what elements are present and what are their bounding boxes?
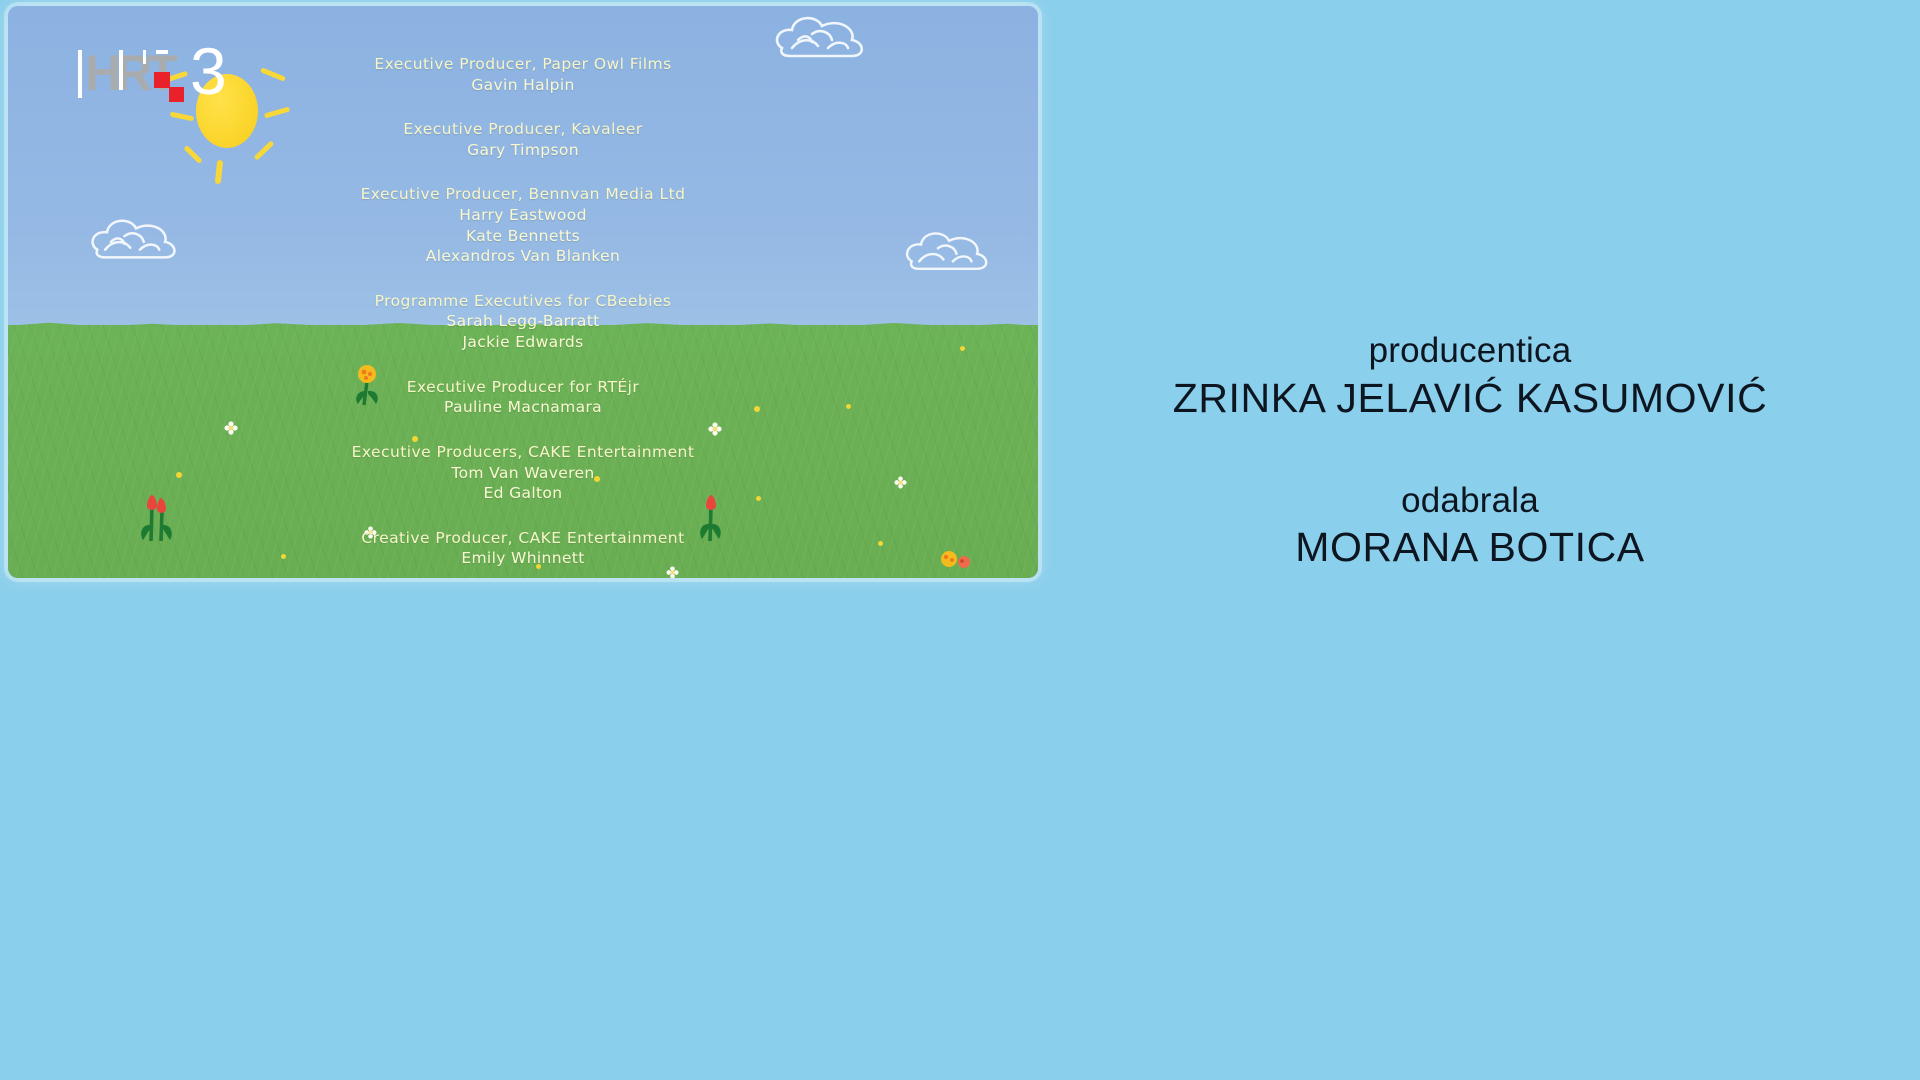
credit-name: Pauline Macnamara: [8, 397, 1038, 418]
video-frame: HRT 3: [8, 6, 1038, 578]
croatian-credit-name: ZRINKA JELAVIĆ KASUMOVIĆ: [1040, 373, 1900, 424]
credit-role: Executive Producer, Bennvan Media Ltd: [8, 184, 1038, 205]
credit-block: Executive Producer, Kavaleer Gary Timpso…: [8, 119, 1038, 160]
credit-role: Programme Executives for CBeebies: [8, 291, 1038, 312]
logo-accent-bar: [156, 50, 168, 54]
video-player-window[interactable]: HRT 3: [8, 6, 1038, 578]
credit-name: Sarah Legg-Barratt: [8, 311, 1038, 332]
credit-role: Creative Producer, CAKE Entertainment: [8, 528, 1038, 549]
video-credits-list: Executive Producer, Paper Owl Films Gavi…: [8, 54, 1038, 578]
logo-channel-number: 3: [190, 38, 227, 104]
croatian-credit-block: odabrala MORANA BOTICA: [1040, 480, 1900, 574]
logo-accent-bar: [143, 50, 146, 64]
credit-block: Programme Executives for CBeebies Sarah …: [8, 291, 1038, 353]
credit-name: Gary Timpson: [8, 140, 1038, 161]
credit-name: Jackie Edwards: [8, 332, 1038, 353]
logo-accent-bar: [119, 50, 123, 90]
credit-block: Creative Producer, CAKE Entertainment Em…: [8, 528, 1038, 569]
credit-name: Alexandros Van Blanken: [8, 246, 1038, 267]
croatian-credit-role: producentica: [1040, 330, 1900, 373]
croatian-credits-overlay: producentica ZRINKA JELAVIĆ KASUMOVIĆ od…: [1040, 330, 1900, 629]
credit-block: Executive Producer, Bennvan Media Ltd Ha…: [8, 184, 1038, 266]
croatian-credit-block: producentica ZRINKA JELAVIĆ KASUMOVIĆ: [1040, 330, 1900, 424]
hrt3-logo: HRT 3: [78, 46, 243, 116]
logo-red-square: [169, 87, 184, 102]
croatian-credit-role: odabrala: [1040, 480, 1900, 523]
croatian-credit-name: MORANA BOTICA: [1040, 522, 1900, 573]
credit-role: Executive Producer for RTÉjr: [8, 377, 1038, 398]
credit-role: Executive Producers, CAKE Entertainment: [8, 442, 1038, 463]
credit-name: Ed Galton: [8, 483, 1038, 504]
logo-accent-bar: [78, 50, 82, 98]
credit-name: Tom Van Waveren: [8, 463, 1038, 484]
credit-block: Executive Producers, CAKE Entertainment …: [8, 442, 1038, 504]
logo-red-square: [154, 72, 170, 88]
credit-name: Harry Eastwood: [8, 205, 1038, 226]
credit-name: Emily Whinnett: [8, 548, 1038, 569]
credit-role: Executive Producer, Kavaleer: [8, 119, 1038, 140]
credit-name: Kate Bennetts: [8, 226, 1038, 247]
credit-block: Executive Producer for RTÉjr Pauline Mac…: [8, 377, 1038, 418]
